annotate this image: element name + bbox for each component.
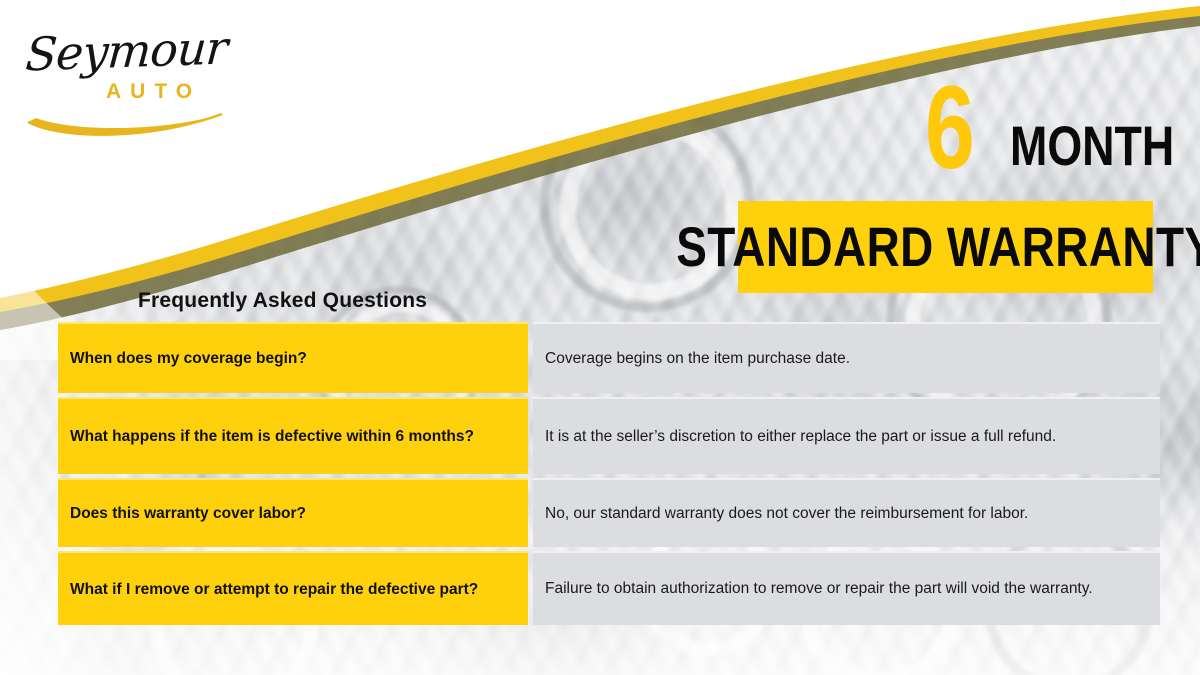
faq-question: What if I remove or attempt to repair th…	[58, 551, 528, 625]
faq-question: When does my coverage begin?	[58, 322, 528, 393]
warranty-slide: Seymour AUTO 6 MONTH STANDARD WARRANTY F…	[0, 0, 1200, 675]
faq-question: What happens if the item is defective wi…	[58, 397, 528, 474]
faq-answer-text: Failure to obtain authorization to remov…	[545, 578, 1144, 600]
standard-warranty-banner: STANDARD WARRANTY	[738, 201, 1153, 293]
faq-answer: No, our standard warranty does not cover…	[533, 478, 1160, 547]
warranty-months-number: 6	[925, 78, 973, 178]
faq-answer: It is at the seller’s discretion to eith…	[533, 397, 1160, 474]
faq-answer-text: Coverage begins on the item purchase dat…	[545, 348, 1144, 370]
standard-warranty-banner-text: STANDARD WARRANTY	[676, 219, 1200, 275]
faq-table: When does my coverage begin? Coverage be…	[58, 322, 1160, 625]
table-row: When does my coverage begin? Coverage be…	[58, 322, 1160, 393]
table-row: What happens if the item is defective wi…	[58, 397, 1160, 474]
table-row: What if I remove or attempt to repair th…	[58, 551, 1160, 625]
faq-question: Does this warranty cover labor?	[58, 478, 528, 547]
logo-wordmark: Seymour	[24, 21, 229, 82]
faq-heading: Frequently Asked Questions	[138, 289, 427, 313]
faq-answer-text: No, our standard warranty does not cover…	[545, 503, 1144, 525]
faq-answer-text: It is at the seller’s discretion to eith…	[545, 426, 1144, 448]
table-row: Does this warranty cover labor? No, our …	[58, 478, 1160, 547]
faq-answer: Coverage begins on the item purchase dat…	[533, 322, 1160, 393]
seymour-auto-logo: Seymour AUTO	[22, 18, 232, 130]
warranty-months-label: MONTH	[1010, 118, 1174, 174]
faq-answer: Failure to obtain authorization to remov…	[533, 551, 1160, 625]
logo-subtext: AUTO	[106, 80, 201, 104]
